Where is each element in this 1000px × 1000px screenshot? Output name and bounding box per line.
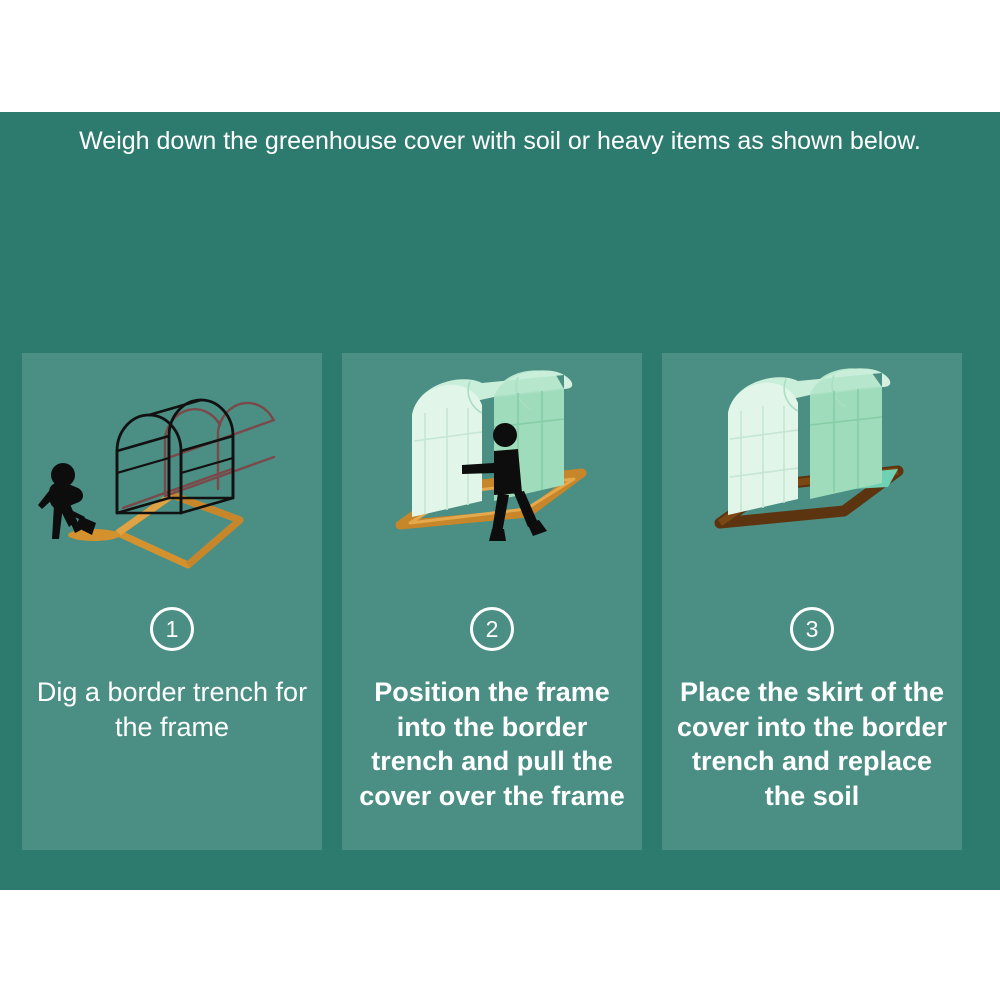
steps-row: 1 Dig a border trench for the frame (22, 353, 962, 850)
step-caption: Position the frame into the border trenc… (342, 651, 642, 813)
illustration-dig-trench (22, 353, 322, 603)
page-title: Keeping it stable (0, 0, 1000, 107)
step-caption: Dig a border trench for the frame (22, 651, 322, 744)
step-number-badge: 3 (790, 607, 834, 651)
illustration-pull-cover (342, 353, 642, 603)
person-digging (38, 463, 96, 539)
step-panel-3: 3 Place the skirt of the cover into the … (662, 353, 962, 850)
greenhouse-frame-wireframe (117, 400, 274, 513)
infographic-page: Keeping it stable Weigh down the greenho… (0, 0, 1000, 1000)
page-subtitle: Weigh down the greenhouse cover with soi… (0, 107, 1000, 158)
trench-shape (118, 495, 240, 565)
step-number-badge: 1 (150, 607, 194, 651)
illustration-finished-greenhouse (662, 353, 962, 603)
step-panel-1: 1 Dig a border trench for the frame (22, 353, 322, 850)
step-number-badge: 2 (470, 607, 514, 651)
header: Keeping it stable Weigh down the greenho… (0, 0, 1000, 158)
step-caption: Place the skirt of the cover into the bo… (662, 651, 962, 813)
step-panel-2: 2 Position the frame into the border tre… (342, 353, 642, 850)
